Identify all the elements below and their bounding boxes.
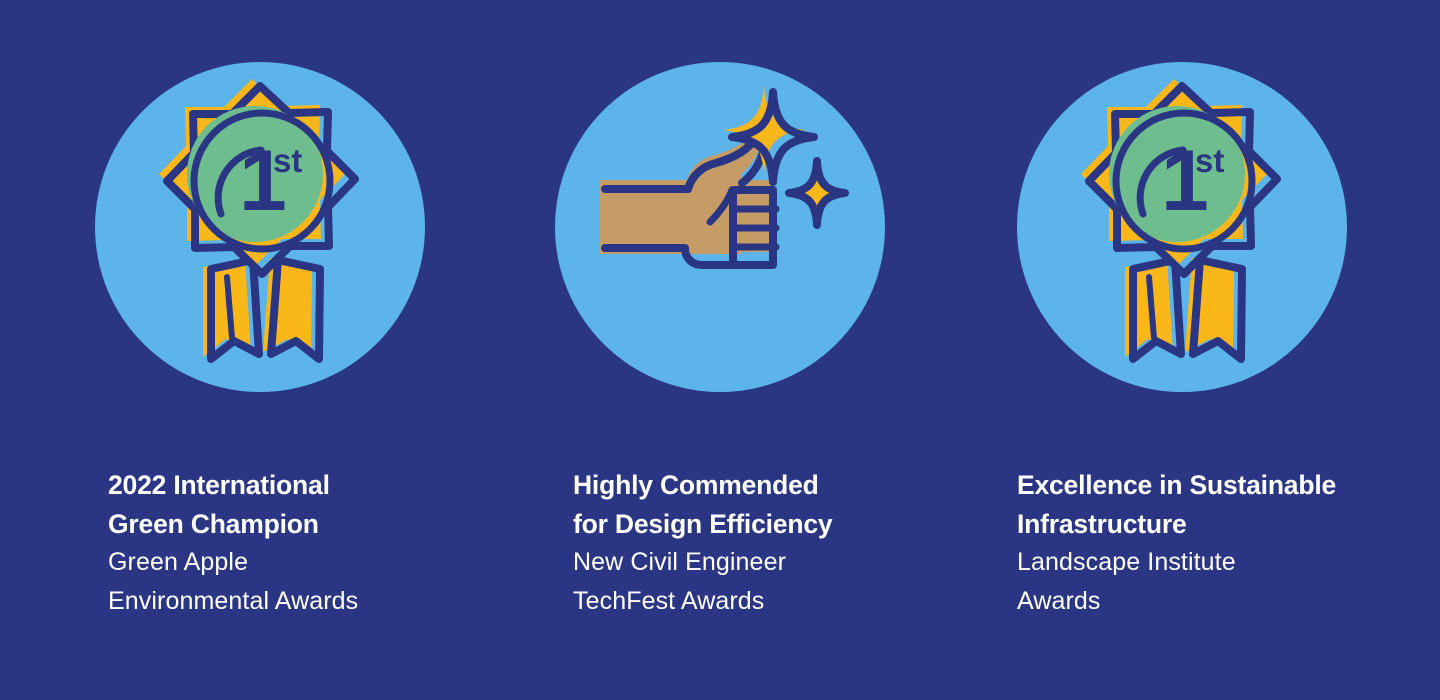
award-item: Highly Commended for Design Efficiency N… xyxy=(553,0,999,700)
award-subtitle: New Civil Engineer TechFest Awards xyxy=(573,543,1003,620)
award-subtitle: Green Apple Environmental Awards xyxy=(108,543,538,620)
award-text-block: Highly Commended for Design Efficiency N… xyxy=(573,466,1003,620)
award-icon-badge xyxy=(555,62,885,392)
award-item: 1 st 2022 International Green Champion G… xyxy=(95,0,541,700)
award-title: 2022 International Green Champion xyxy=(108,466,538,543)
award-title: Excellence in Sustainable Infrastructure xyxy=(1017,466,1440,543)
thumbs-up-sparkle-icon xyxy=(555,62,885,392)
award-item: 1 st Excellence in Sustainable Infrastru… xyxy=(1005,0,1440,700)
award-text-block: 2022 International Green Champion Green … xyxy=(108,466,538,620)
first-place-rosette-icon: 1 st xyxy=(1017,62,1347,392)
award-text-block: Excellence in Sustainable Infrastructure… xyxy=(1017,466,1440,620)
sparkle-small-icon xyxy=(789,161,845,225)
first-place-rosette-icon: 1 st xyxy=(95,62,425,392)
awards-recognition-strip: 1 st 2022 International Green Champion G… xyxy=(0,0,1440,700)
rosette-rank-ordinal: st xyxy=(273,142,302,179)
award-icon-badge: 1 st xyxy=(95,62,425,392)
award-subtitle: Landscape Institute Awards xyxy=(1017,543,1440,620)
thumbs-up-hand-fill xyxy=(600,135,775,254)
award-icon-badge: 1 st xyxy=(1017,62,1347,392)
rosette-rank-ordinal: st xyxy=(1195,142,1224,179)
award-title: Highly Commended for Design Efficiency xyxy=(573,466,1003,543)
